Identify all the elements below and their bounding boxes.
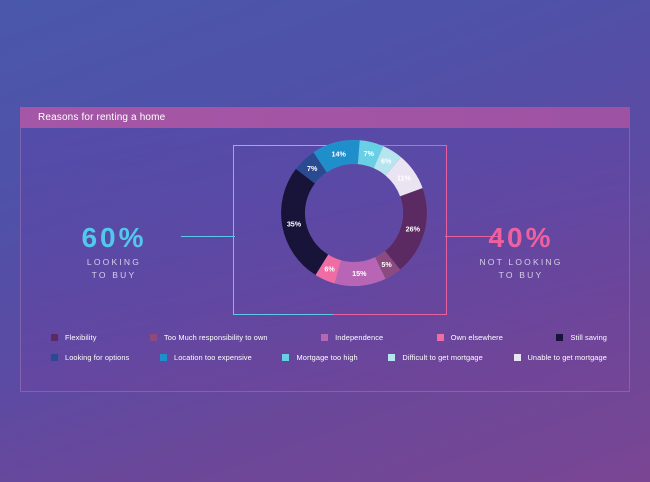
stat-right-line1: NOT LOOKING bbox=[446, 257, 596, 267]
legend-swatch-icon bbox=[556, 334, 563, 341]
donut-chart-svg: 26%5%15%6%35%7%14%7%6%11% bbox=[278, 137, 430, 289]
chart-card: Reasons for renting a home 60% LOOKING T… bbox=[20, 107, 630, 392]
legend-item[interactable]: Own elsewhere bbox=[437, 333, 503, 342]
legend-label: Independence bbox=[335, 333, 383, 342]
legend-item[interactable]: Location too expensive bbox=[160, 353, 252, 362]
legend-swatch-icon bbox=[160, 354, 167, 361]
legend-swatch-icon bbox=[514, 354, 521, 361]
legend-swatch-icon bbox=[282, 354, 289, 361]
legend-label: Unable to get mortgage bbox=[528, 353, 607, 362]
legend-row: Looking for optionsLocation too expensiv… bbox=[21, 353, 629, 362]
donut-slice-label: 6% bbox=[324, 264, 335, 273]
donut-slice-label: 6% bbox=[381, 157, 392, 166]
slide-canvas: Reasons for renting a home 60% LOOKING T… bbox=[0, 0, 650, 482]
legend-item[interactable]: Mortgage too high bbox=[282, 353, 357, 362]
legend-swatch-icon bbox=[321, 334, 328, 341]
stat-left-line1: LOOKING bbox=[39, 257, 189, 267]
legend-item[interactable]: Flexibility bbox=[51, 333, 97, 342]
donut-slice-label: 7% bbox=[364, 149, 375, 158]
legend-label: Difficult to get mortgage bbox=[402, 353, 482, 362]
donut-chart: 26%5%15%6%35%7%14%7%6%11% bbox=[278, 137, 430, 289]
page-title: Reasons for renting a home bbox=[38, 112, 165, 123]
legend-label: Mortgage too high bbox=[296, 353, 357, 362]
legend-item[interactable]: Difficult to get mortgage bbox=[388, 353, 482, 362]
legend-item[interactable]: Looking for options bbox=[51, 353, 129, 362]
connector-line-left bbox=[181, 236, 235, 237]
legend-item[interactable]: Independence bbox=[321, 333, 383, 342]
donut-slice-label: 11% bbox=[397, 173, 412, 182]
stat-right-line2: TO BUY bbox=[446, 270, 596, 280]
donut-slice-label: 7% bbox=[307, 164, 318, 173]
legend-row: FlexibilityToo Much responsibility to ow… bbox=[21, 333, 629, 342]
legend-label: Too Much responsibility to own bbox=[164, 333, 268, 342]
stat-looking-to-buy: 60% LOOKING TO BUY bbox=[39, 223, 189, 280]
legend-label: Looking for options bbox=[65, 353, 129, 362]
donut-slice-label: 26% bbox=[406, 225, 421, 234]
legend-label: Still saving bbox=[570, 333, 607, 342]
legend-swatch-icon bbox=[150, 334, 157, 341]
legend-swatch-icon bbox=[437, 334, 444, 341]
stat-not-looking-to-buy: 40% NOT LOOKING TO BUY bbox=[446, 223, 596, 280]
legend-label: Flexibility bbox=[65, 333, 97, 342]
card-body: 60% LOOKING TO BUY 40% NOT LOOKING TO BU… bbox=[20, 128, 630, 392]
donut-slice-label: 35% bbox=[287, 219, 302, 228]
donut-slice-label: 5% bbox=[381, 260, 392, 269]
legend-swatch-icon bbox=[51, 354, 58, 361]
donut-slice-label: 14% bbox=[331, 149, 346, 158]
chart-legend: FlexibilityToo Much responsibility to ow… bbox=[21, 333, 629, 373]
card-header: Reasons for renting a home bbox=[20, 107, 630, 128]
legend-item[interactable]: Still saving bbox=[556, 333, 607, 342]
legend-item[interactable]: Too Much responsibility to own bbox=[150, 333, 268, 342]
legend-swatch-icon bbox=[51, 334, 58, 341]
stat-left-line2: TO BUY bbox=[39, 270, 189, 280]
legend-label: Location too expensive bbox=[174, 353, 252, 362]
donut-slice-label: 15% bbox=[352, 269, 367, 278]
legend-item[interactable]: Unable to get mortgage bbox=[514, 353, 607, 362]
stat-left-value: 60% bbox=[39, 223, 189, 252]
legend-swatch-icon bbox=[388, 354, 395, 361]
legend-label: Own elsewhere bbox=[451, 333, 503, 342]
stat-right-value: 40% bbox=[446, 223, 596, 252]
